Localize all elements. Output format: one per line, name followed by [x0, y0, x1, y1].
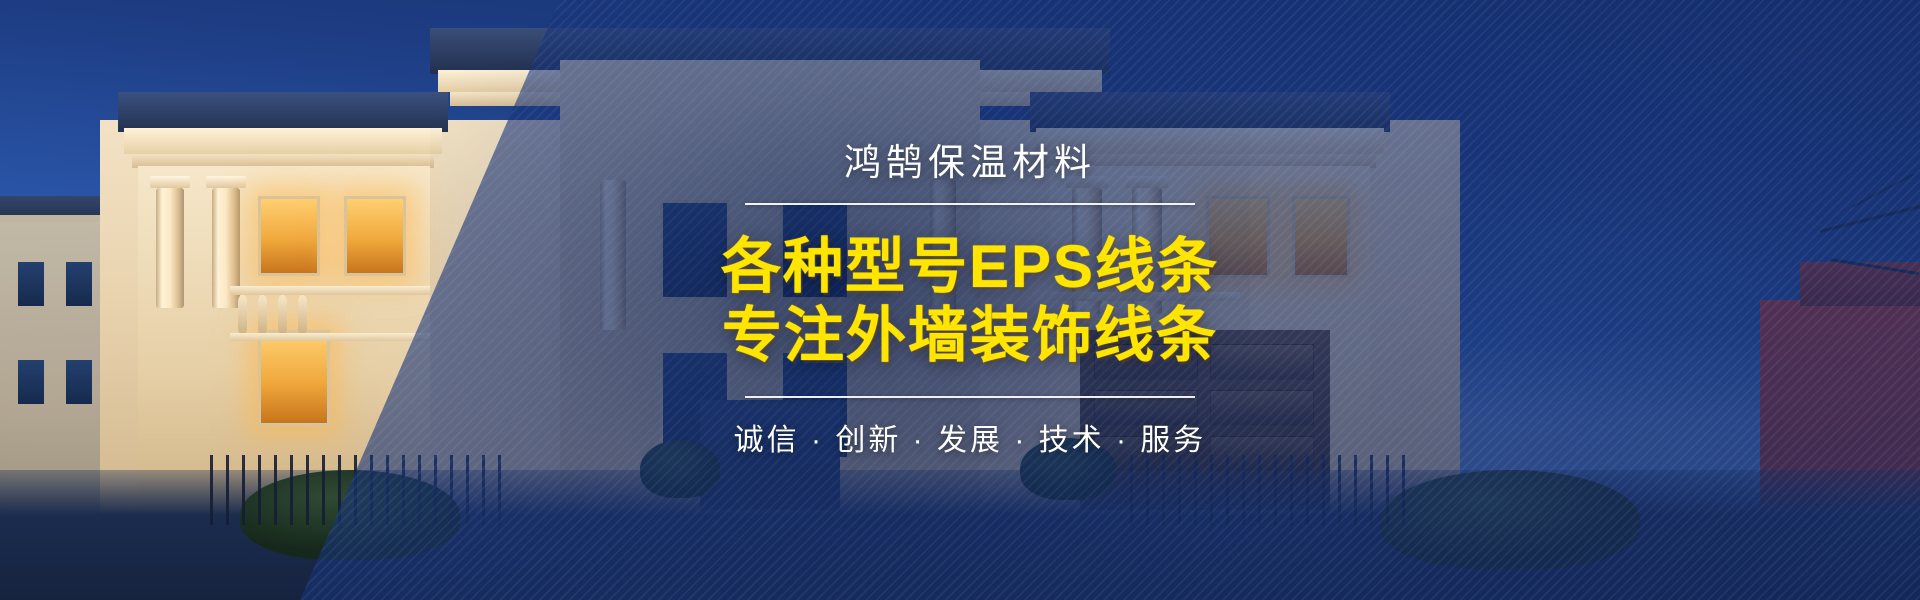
hero-banner: 鸿鹄保温材料 各种型号EPS线条 专注外墙装饰线条 诚信 · 创新 · 发展 ·… [0, 0, 1920, 600]
tagline: 诚信 · 创新 · 发展 · 技术 · 服务 [734, 426, 1207, 456]
banner-text-block: 鸿鹄保温材料 各种型号EPS线条 专注外墙装饰线条 诚信 · 创新 · 发展 ·… [710, 144, 1230, 455]
headline-line-2: 专注外墙装饰线条 [722, 304, 1218, 368]
divider-bottom [745, 396, 1195, 398]
headline-line-1: 各种型号EPS线条 [721, 235, 1219, 299]
brand-name: 鸿鹄保温材料 [844, 144, 1096, 181]
divider-top [745, 203, 1195, 205]
banner-content: 鸿鹄保温材料 各种型号EPS线条 专注外墙装饰线条 诚信 · 创新 · 发展 ·… [0, 0, 1920, 600]
